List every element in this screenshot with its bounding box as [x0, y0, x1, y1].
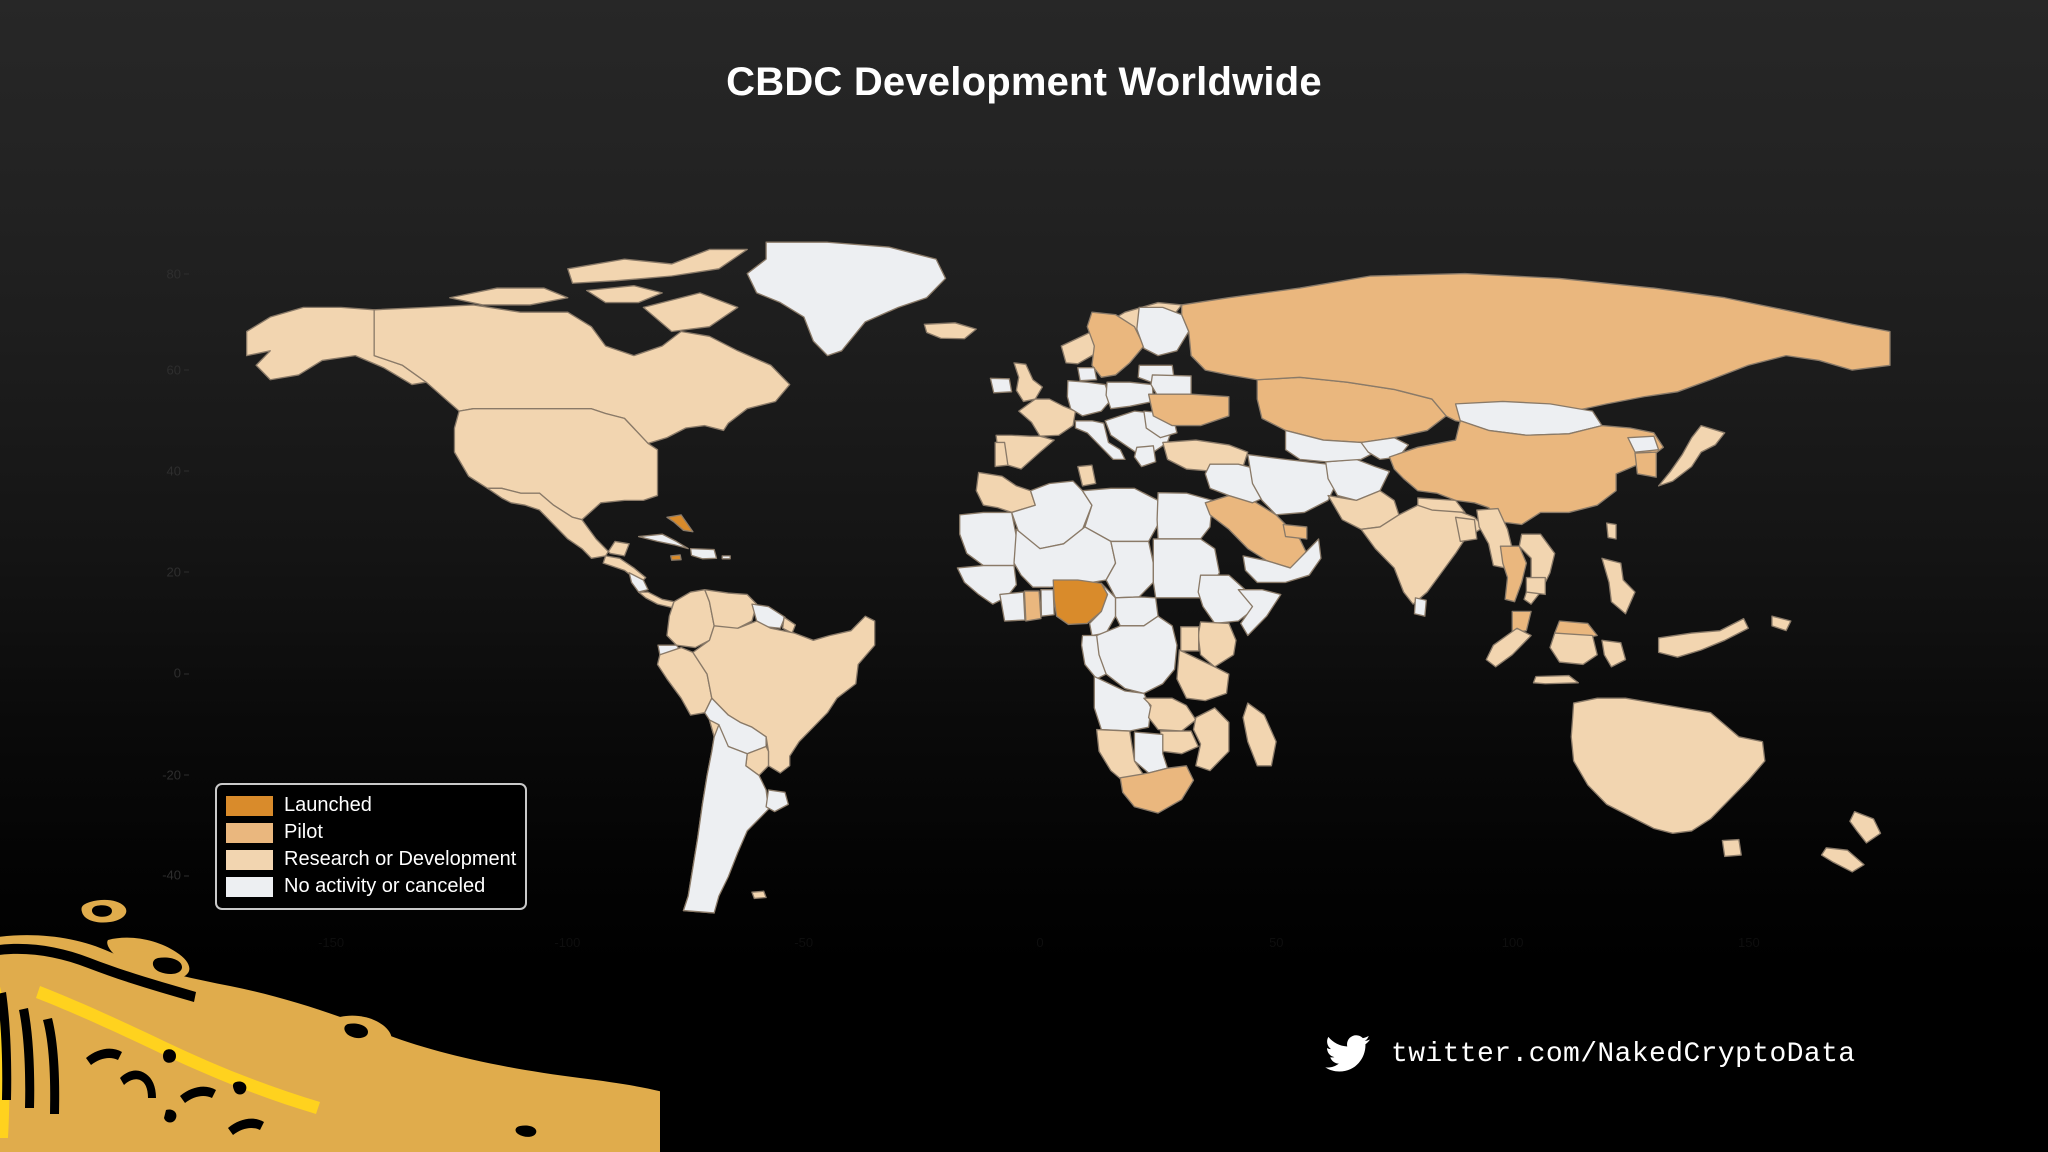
legend-swatch-launched — [226, 796, 273, 816]
region-greece — [1134, 446, 1155, 467]
y-axis-tick: 20 — [167, 564, 190, 579]
region-egypt — [1157, 493, 1212, 539]
region-thailand — [1500, 546, 1526, 601]
region-zambia — [1144, 698, 1196, 731]
region-australia — [1571, 698, 1765, 833]
region-new-zealand-south — [1822, 848, 1865, 872]
region-cuba — [639, 534, 689, 548]
region-ireland — [990, 378, 1011, 392]
x-axis-tick: -50 — [794, 935, 813, 950]
region-morocco — [976, 472, 1035, 512]
y-axis-tick: 60 — [167, 362, 190, 377]
region-germany — [1067, 381, 1110, 416]
region-madagascar — [1243, 703, 1276, 766]
x-axis-tick: -100 — [554, 935, 580, 950]
region-france — [1019, 399, 1076, 436]
region-sri-lanka — [1414, 598, 1426, 616]
region-png-islands — [1772, 616, 1791, 630]
region-iceland — [924, 323, 976, 339]
legend-swatch-no-activity — [226, 877, 273, 897]
region-colombia — [667, 590, 714, 648]
region-canada-arctic — [568, 249, 747, 283]
region-papua — [1659, 619, 1749, 658]
x-axis-tick: 150 — [1738, 935, 1760, 950]
region-chad — [1106, 541, 1153, 597]
region-mozambique — [1193, 708, 1228, 771]
region-canada-arctic — [450, 288, 568, 305]
region-finland — [1137, 307, 1189, 355]
region-indonesia-borneo — [1550, 633, 1597, 664]
region-uruguay — [766, 790, 788, 812]
legend-label-no-activity: No activity or canceled — [284, 875, 485, 898]
region-denmark — [1078, 368, 1097, 381]
region-ghana — [1024, 591, 1041, 621]
region-uae — [1283, 525, 1307, 539]
legend-item-pilot[interactable]: Pilot — [226, 819, 516, 846]
region-united-kingdom — [1014, 363, 1042, 402]
region-indonesia-java — [1533, 676, 1578, 684]
region-kenya — [1198, 622, 1236, 667]
region-tunisia — [1078, 465, 1096, 486]
map-legend: Launched Pilot Research or Development N… — [215, 783, 527, 910]
region-bahamas — [667, 515, 693, 532]
infographic-canvas: CBDC Development Worldwide 80 60 40 20 0… — [0, 0, 2048, 1152]
region-poland — [1106, 382, 1153, 409]
twitter-credit[interactable]: twitter.com/NakedCryptoData — [1325, 1035, 1855, 1073]
region-tasmania — [1722, 840, 1741, 857]
region-benin-togo — [1041, 590, 1054, 617]
region-canada-arctic — [643, 293, 737, 332]
legend-item-no-activity[interactable]: No activity or canceled — [226, 873, 516, 900]
region-new-zealand-north — [1850, 812, 1881, 843]
legend-label-research: Research or Development — [284, 848, 516, 871]
region-jamaica — [671, 555, 681, 560]
x-axis-tick: -150 — [318, 935, 344, 950]
region-hispaniola — [691, 549, 717, 559]
region-uganda — [1181, 627, 1199, 651]
x-axis-tick: 50 — [1269, 935, 1283, 950]
y-axis-tick: 0 — [174, 666, 190, 681]
region-mauritania — [960, 512, 1017, 565]
region-botswana — [1134, 732, 1167, 773]
region-costa-rica-panama — [639, 592, 674, 607]
legend-label-launched: Launched — [284, 794, 372, 817]
region-canada-arctic — [587, 286, 663, 303]
y-axis-tick: 80 — [167, 266, 190, 281]
legend-label-pilot: Pilot — [284, 821, 323, 844]
legend-swatch-pilot — [226, 823, 273, 843]
x-axis-tick: 100 — [1502, 935, 1524, 950]
y-axis-tick: -20 — [162, 767, 190, 782]
region-falklands — [752, 891, 766, 898]
twitter-bird-icon — [1325, 1035, 1371, 1073]
y-axis-tick: 40 — [167, 463, 190, 478]
region-taiwan — [1607, 523, 1616, 539]
region-south-korea — [1635, 452, 1656, 477]
page-title: CBDC Development Worldwide — [0, 60, 2048, 105]
region-japan — [1659, 426, 1725, 486]
region-united-states — [454, 409, 657, 520]
region-philippines — [1602, 558, 1635, 613]
y-axis-tick: -40 — [162, 868, 190, 883]
region-indonesia-sumatra — [1486, 628, 1531, 667]
legend-swatch-research — [226, 850, 273, 870]
region-greenland — [747, 242, 945, 355]
legend-item-launched[interactable]: Launched — [226, 792, 516, 819]
region-belarus — [1151, 375, 1191, 397]
region-indonesia-sulawesi — [1602, 640, 1626, 667]
x-axis-tick: 0 — [1036, 935, 1043, 950]
legend-item-research[interactable]: Research or Development — [226, 846, 516, 873]
twitter-handle-text: twitter.com/NakedCryptoData — [1391, 1039, 1855, 1070]
region-cambodia — [1526, 578, 1545, 595]
region-zimbabwe — [1160, 731, 1198, 754]
region-puerto-rico — [722, 556, 730, 559]
region-ivory-coast — [1000, 592, 1025, 621]
